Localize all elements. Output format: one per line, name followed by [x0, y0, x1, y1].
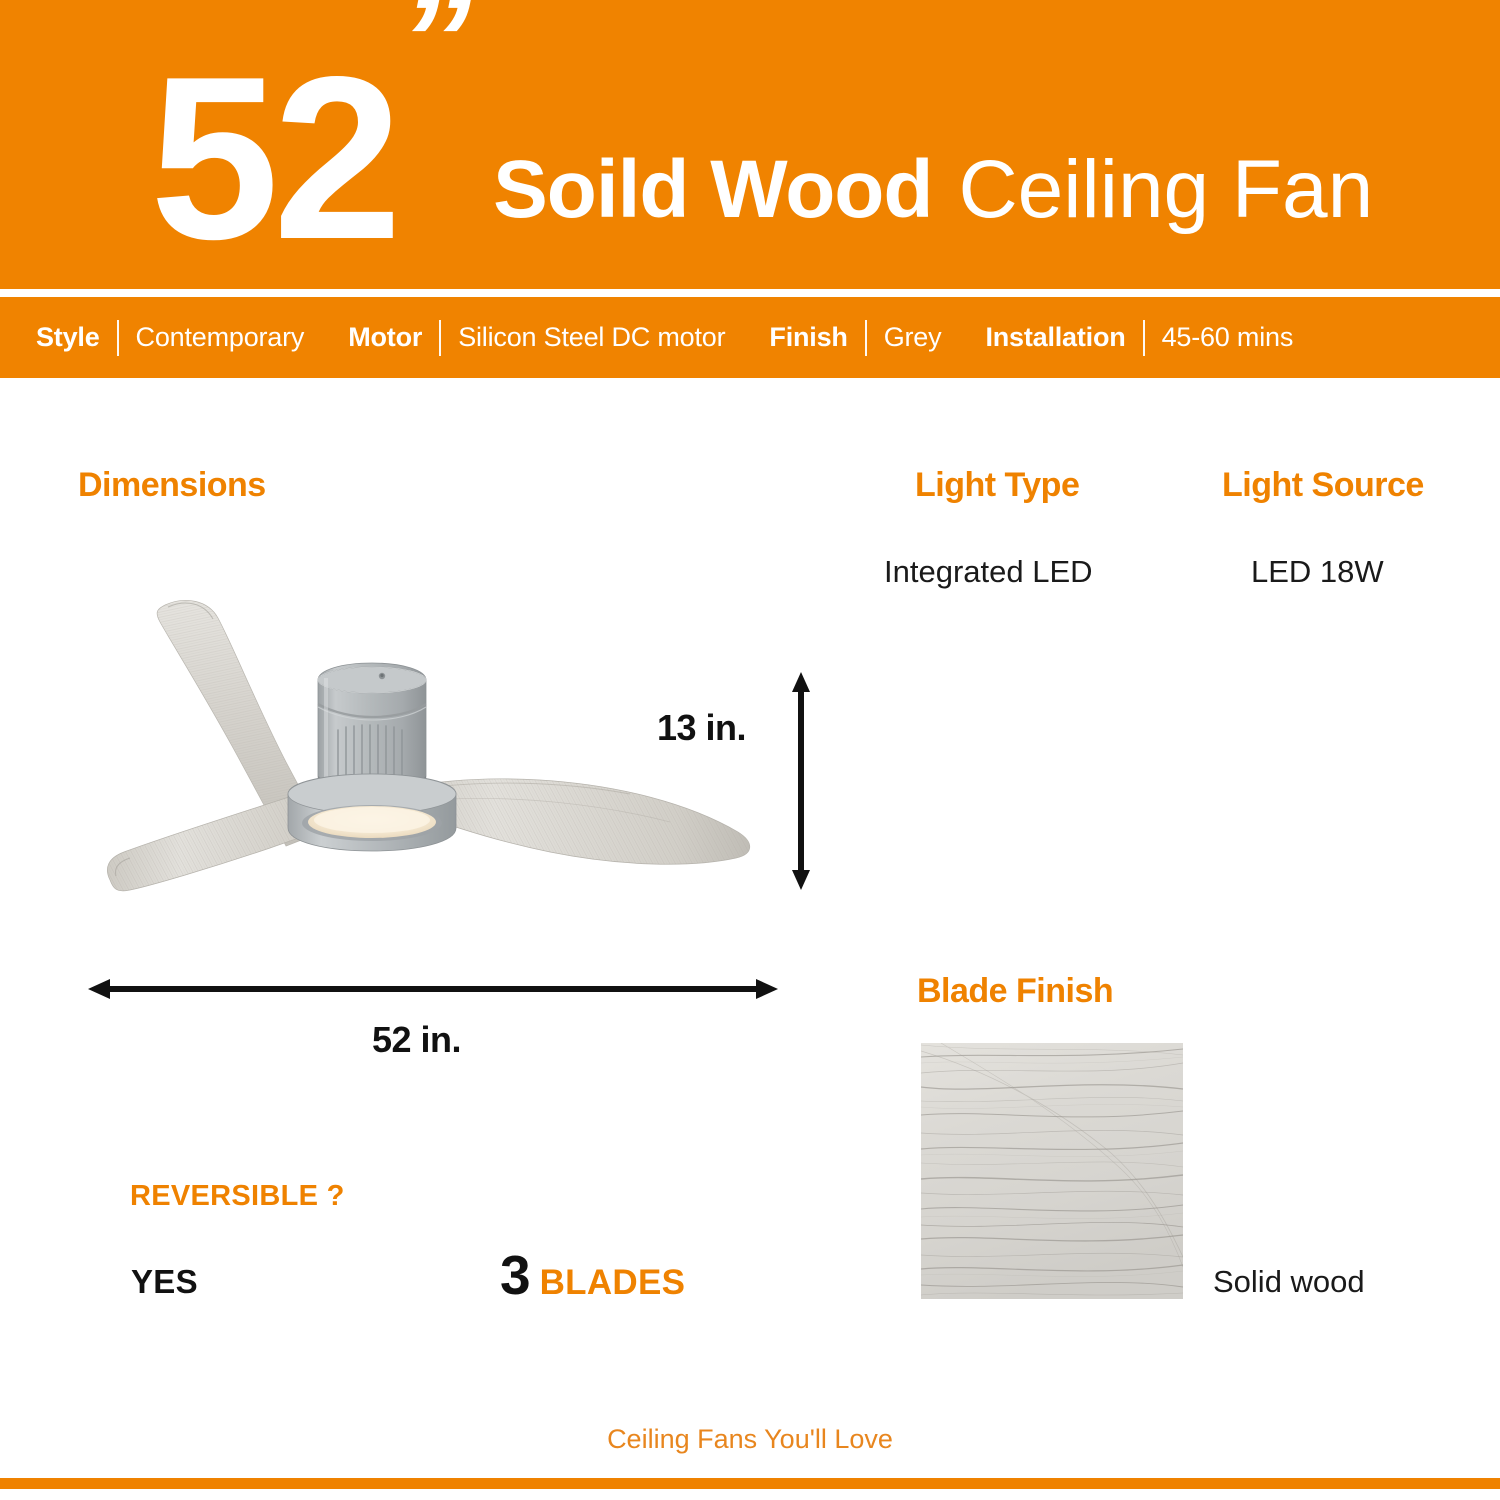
- light-type-value: Integrated LED: [884, 554, 1093, 590]
- spec-value-installation: 45-60 mins: [1162, 322, 1294, 353]
- spec-bar: Style Contemporary Motor Silicon Steel D…: [0, 297, 1500, 378]
- wood-grain-texture: [921, 1043, 1183, 1299]
- width-dimension-label: 52 in.: [372, 1019, 461, 1061]
- spec-item-style: Style Contemporary: [36, 320, 304, 356]
- spec-label-finish: Finish: [769, 322, 847, 353]
- header-content: 52 ” Soild WoodCeiling Fan: [150, 59, 1373, 259]
- spec-divider: [865, 320, 867, 356]
- light-source-heading: Light Source: [1222, 466, 1424, 505]
- footer-accent-bar: [0, 1478, 1500, 1489]
- spec-item-motor: Motor Silicon Steel DC motor: [348, 320, 725, 356]
- hero-size-group: 52 ”: [150, 59, 463, 259]
- header-banner: 52 ” Soild WoodCeiling Fan: [0, 0, 1500, 289]
- light-source-value: LED 18W: [1251, 554, 1384, 590]
- blade-finish-heading: Blade Finish: [917, 972, 1113, 1011]
- footer-tagline: Ceiling Fans You'll Love: [0, 1424, 1500, 1455]
- spec-divider: [1143, 320, 1145, 356]
- spec-item-installation: Installation 45-60 mins: [985, 320, 1293, 356]
- blade-count-number: 3: [500, 1243, 530, 1307]
- spec-label-installation: Installation: [985, 322, 1125, 353]
- width-dimension-arrow: [88, 975, 778, 1003]
- hero-title: Soild WoodCeiling Fan: [463, 143, 1373, 237]
- height-dimension-label: 13 in.: [657, 707, 746, 749]
- height-dimension-arrow: [788, 672, 814, 890]
- led-light-housing: [288, 774, 456, 851]
- spec-value-style: Contemporary: [136, 322, 305, 353]
- spec-divider: [117, 320, 119, 356]
- spec-value-finish: Grey: [884, 322, 942, 353]
- reversible-heading: REVERSIBLE ?: [130, 1180, 345, 1213]
- hero-title-light: Ceiling Fan: [932, 144, 1373, 235]
- blade-count-group: 3 BLADES: [500, 1243, 685, 1307]
- spec-label-style: Style: [36, 322, 100, 353]
- blade-finish-swatch: [921, 1043, 1183, 1299]
- spec-value-motor: Silicon Steel DC motor: [458, 322, 725, 353]
- spec-divider: [439, 320, 441, 356]
- spec-label-motor: Motor: [348, 322, 422, 353]
- light-type-heading: Light Type: [915, 466, 1079, 505]
- spec-item-finish: Finish Grey: [769, 320, 941, 356]
- blade-finish-caption: Solid wood: [1213, 1264, 1365, 1300]
- reversible-value: YES: [131, 1263, 198, 1301]
- inch-mark-icon: ”: [398, 0, 465, 115]
- hero-size-number: 52: [150, 59, 396, 259]
- blade-count-label: BLADES: [530, 1263, 686, 1303]
- dimensions-heading: Dimensions: [78, 466, 266, 505]
- hero-title-bold: Soild Wood: [493, 144, 932, 235]
